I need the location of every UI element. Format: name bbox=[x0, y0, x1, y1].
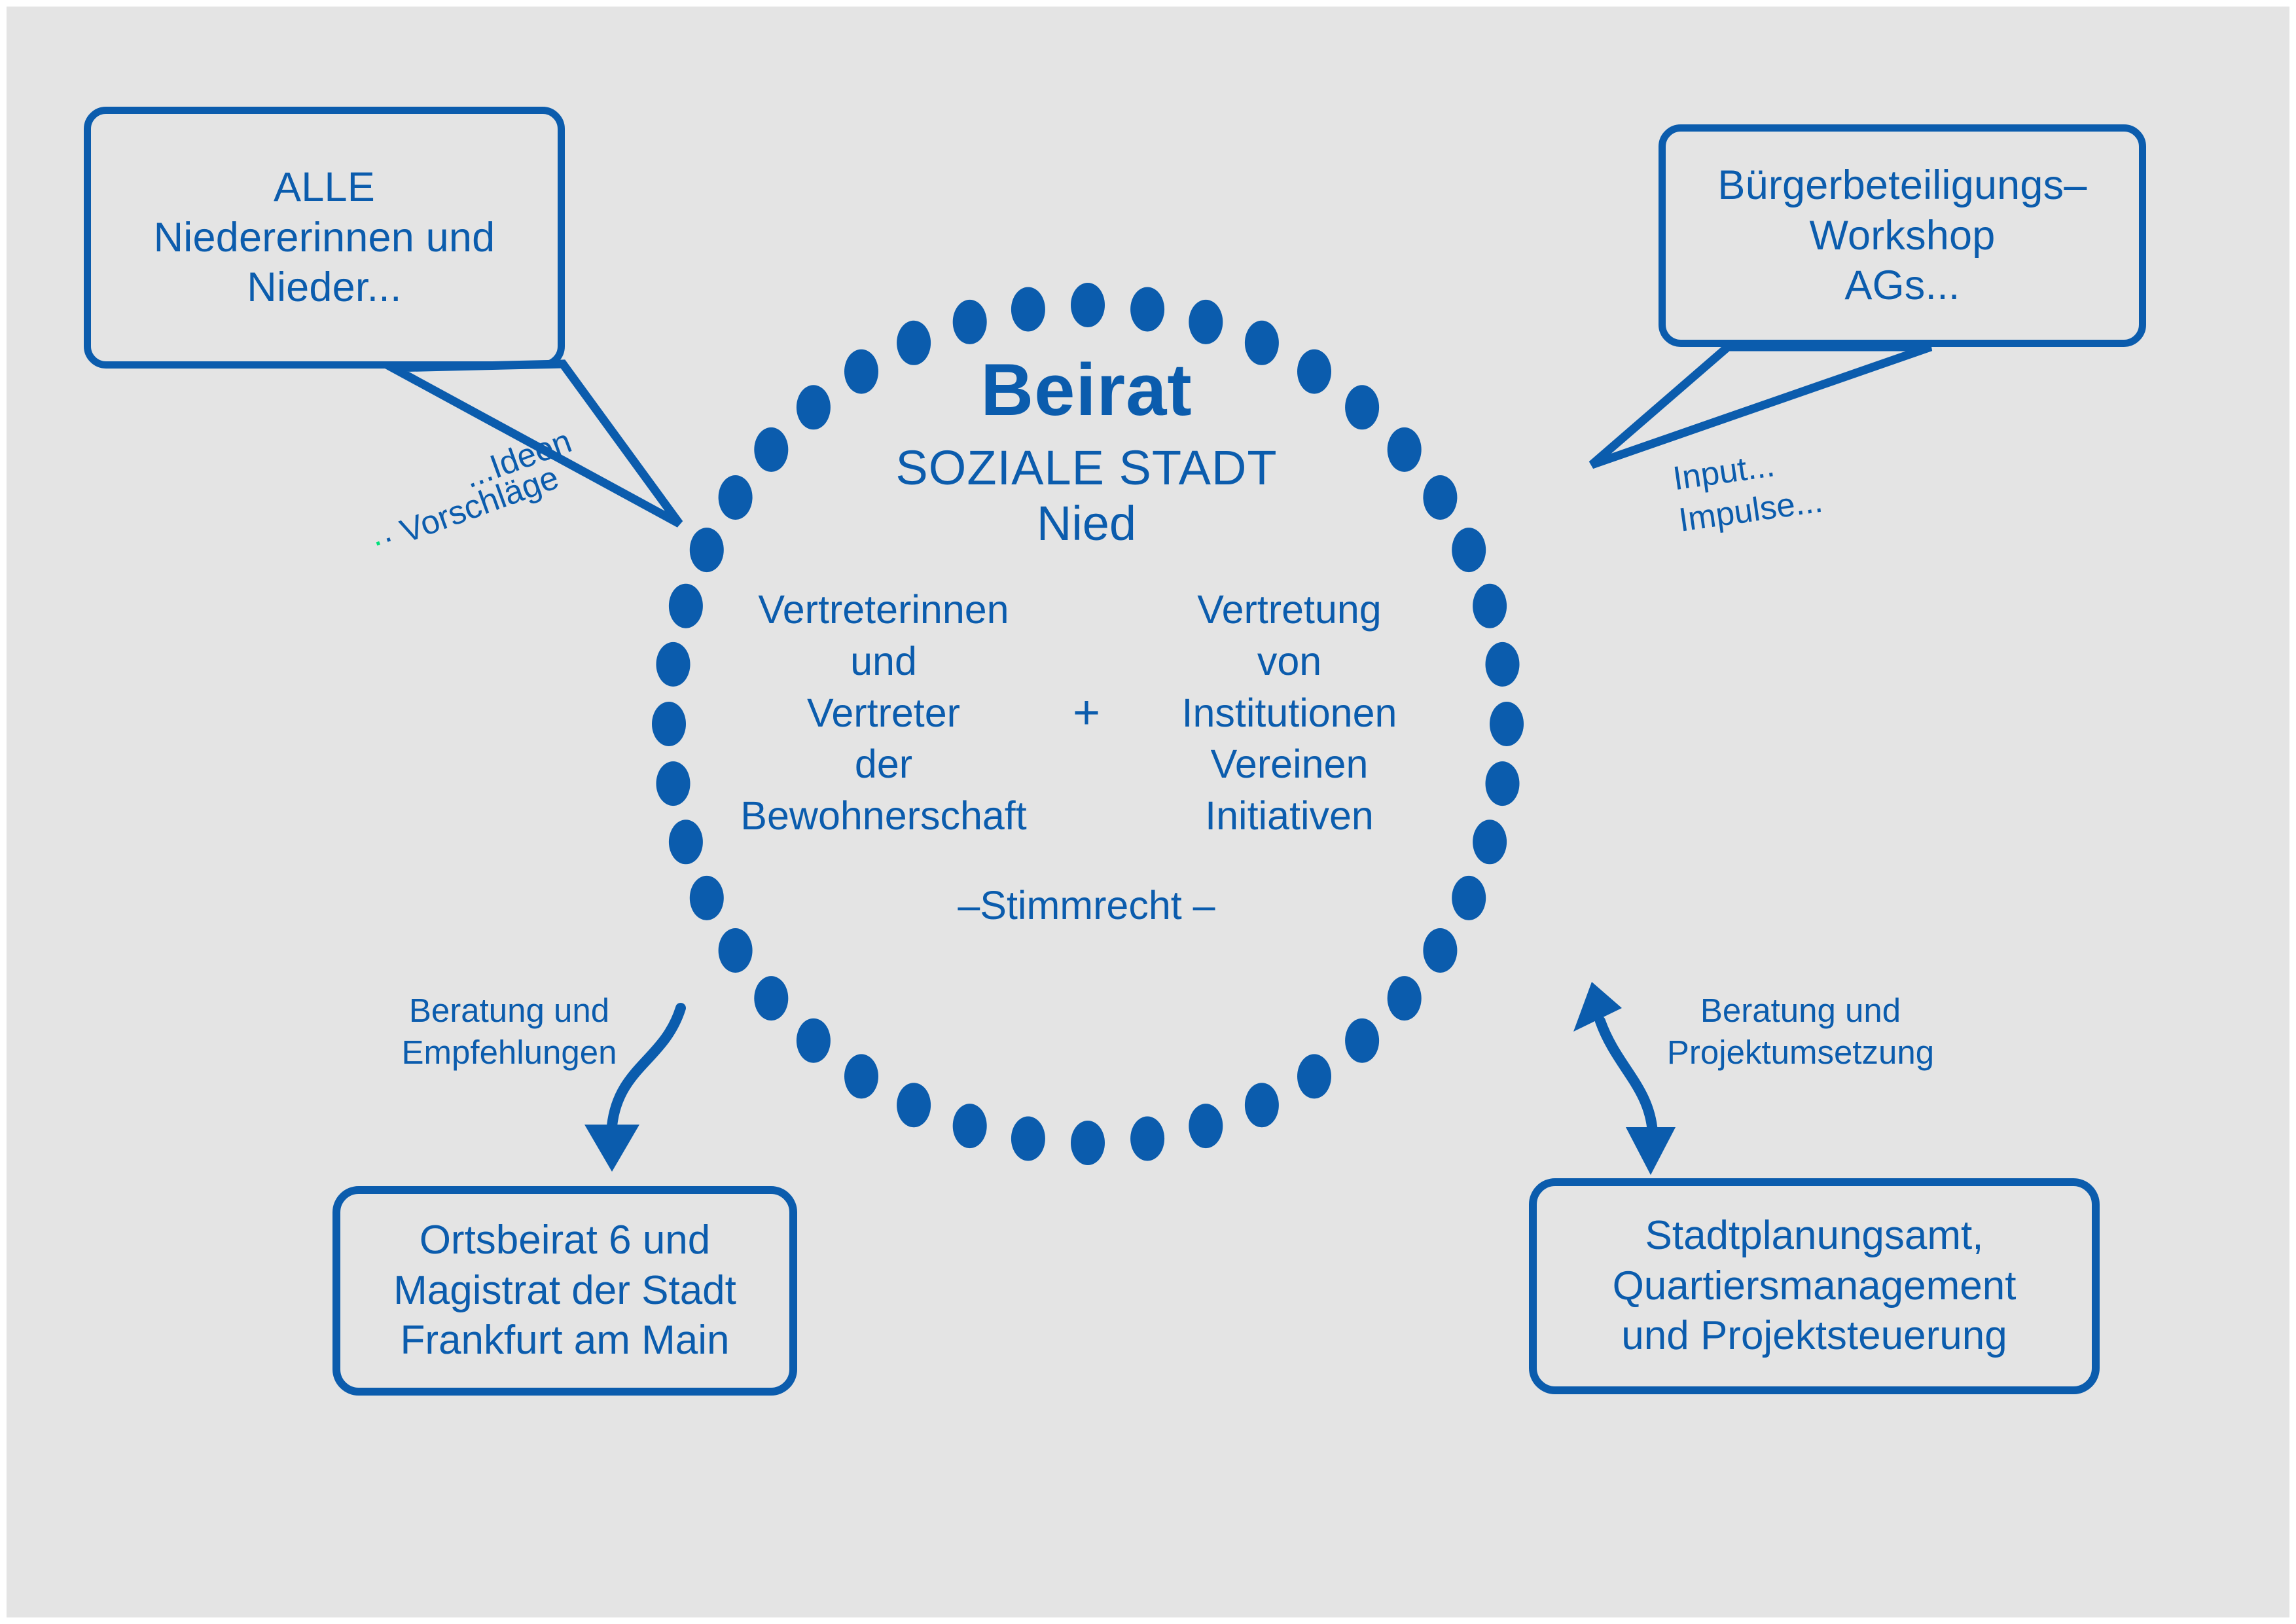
box-stadtplanung-text: Stadtplanungsamt, Quartiersmanagement un… bbox=[1613, 1211, 2017, 1362]
page-title: Beirat bbox=[674, 353, 1499, 427]
center-columns: Vertreterinnen und Vertreter der Bewohne… bbox=[674, 584, 1499, 841]
circle-dot bbox=[1130, 287, 1164, 332]
speech-bubble-alle[interactable]: ALLE Niedererinnen und Nieder... bbox=[84, 107, 565, 369]
center-content: Beirat SOZIALE STADT Nied Vertreterinnen… bbox=[674, 353, 1499, 1139]
center-subtitle-2: Nied bbox=[674, 496, 1499, 551]
circle-dot bbox=[1071, 283, 1105, 327]
box-ortsbeirat-magistrat[interactable]: Ortsbeirat 6 und Magistrat der Stadt Fra… bbox=[332, 1186, 797, 1396]
column-right-institutionen: Vertretung von Institutionen Vereinen In… bbox=[1126, 584, 1453, 841]
speech-bubble-workshop-text: Bürgerbeteiligungs– Workshop AGs... bbox=[1717, 160, 2087, 312]
column-left-bewohnerschaft: Vertreterinnen und Vertreter der Bewohne… bbox=[720, 584, 1047, 841]
arrow-beratung-projektumsetzung bbox=[1600, 1021, 1653, 1132]
circle-dot bbox=[1189, 300, 1223, 344]
speech-bubble-alle-text: ALLE Niedererinnen und Nieder... bbox=[154, 162, 495, 314]
box-stadtplanungsamt[interactable]: Stadtplanungsamt, Quartiersmanagement un… bbox=[1529, 1178, 2100, 1394]
label-beratung-projektumsetzung: Beratung und Projektumsetzung bbox=[1647, 990, 1954, 1074]
arrowhead-down-left bbox=[584, 1125, 639, 1172]
circle-dot bbox=[1011, 287, 1045, 332]
stimmrecht-note: –Stimmrecht – bbox=[674, 882, 1499, 928]
label-beratung-empfehlungen: Beratung und Empfehlungen bbox=[378, 990, 640, 1074]
center-subtitle-1: SOZIALE STADT bbox=[674, 440, 1499, 496]
plus-operator: + bbox=[1047, 689, 1126, 736]
box-ortsbeirat-text: Ortsbeirat 6 und Magistrat der Stadt Fra… bbox=[393, 1216, 736, 1367]
speech-bubble-workshop[interactable]: Bürgerbeteiligungs– Workshop AGs... bbox=[1659, 124, 2146, 347]
circle-dot bbox=[953, 300, 987, 344]
diagram-canvas: Beirat SOZIALE STADT Nied Vertreterinnen… bbox=[0, 0, 2296, 1624]
arrowhead-down-right bbox=[1626, 1127, 1676, 1175]
